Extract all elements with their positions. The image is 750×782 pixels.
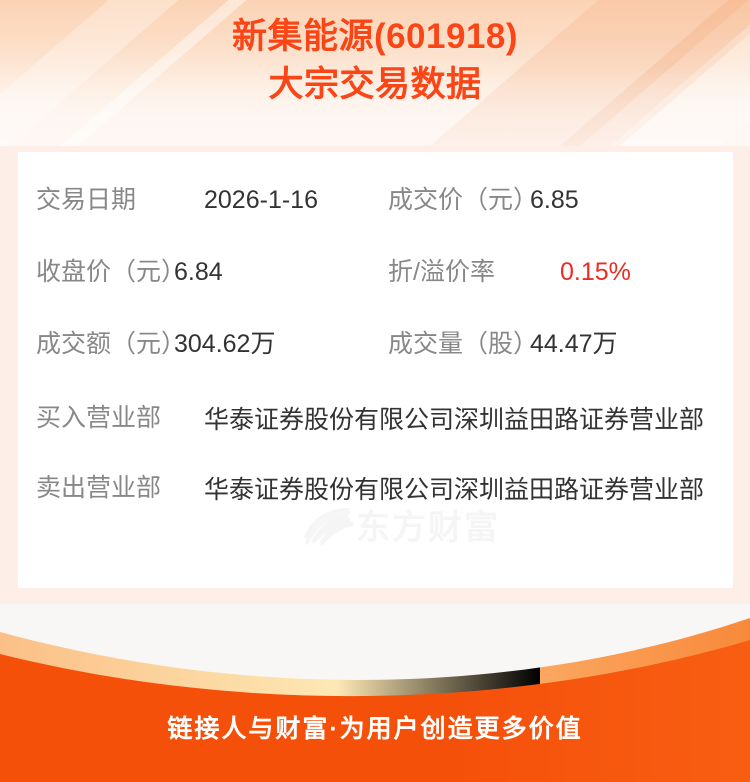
label-turnover-amount: 成交额（元） [36,324,174,364]
cell-deal-price: 成交价（元） 6.85 [388,180,733,220]
value-turnover-volume: 44.47万 [530,324,618,364]
data-rows: 交易日期 2026-1-16 成交价（元） 6.85 收盘价（元） 6.84 折… [18,180,733,520]
footer-wave-decoration [0,604,750,782]
value-deal-price: 6.85 [530,180,579,220]
cell-close-price: 收盘价（元） 6.84 [36,252,388,292]
table-row: 交易日期 2026-1-16 成交价（元） 6.85 [18,180,733,232]
table-row: 成交额（元） 304.62万 成交量（股） 44.47万 [18,324,733,376]
cell-turnover-amount: 成交额（元） 304.62万 [36,324,388,364]
footer-band: 链接人与财富·为用户创造更多价值 [0,604,750,782]
value-turnover-amount: 304.62万 [174,324,275,364]
cell-premium-rate: 折/溢价率 0.15% [388,252,733,292]
value-close-price: 6.84 [174,252,223,292]
table-row: 卖出营业部 华泰证券股份有限公司深圳益田路证券营业部 [18,468,733,520]
value-premium-rate: 0.15% [560,252,631,292]
trade-data-card: 东方财富 交易日期 2026-1-16 成交价（元） 6.85 收盘价（元） 6… [18,152,733,588]
footer-slogan: 链接人与财富·为用户创造更多价值 [0,709,750,745]
value-buy-branch: 华泰证券股份有限公司深圳益田路证券营业部 [204,398,713,443]
page-title-line-2: 大宗交易数据 [0,61,750,109]
page-title-line-1: 新集能源(601918) [232,17,518,56]
table-row: 买入营业部 华泰证券股份有限公司深圳益田路证券营业部 [18,398,733,450]
poster-root: 新集能源(601918) 大宗交易数据 东方财富 交易日期 2026-1-16 … [0,0,750,782]
value-trade-date: 2026-1-16 [204,180,318,220]
cell-trade-date: 交易日期 2026-1-16 [36,180,388,220]
label-turnover-volume: 成交量（股） [388,324,530,364]
page-title: 新集能源(601918) 大宗交易数据 [0,0,750,109]
label-close-price: 收盘价（元） [36,252,174,292]
label-sell-branch: 卖出营业部 [36,468,204,508]
value-sell-branch: 华泰证券股份有限公司深圳益田路证券营业部 [204,468,713,513]
cell-turnover-volume: 成交量（股） 44.47万 [388,324,733,364]
label-trade-date: 交易日期 [36,180,204,220]
label-premium-rate: 折/溢价率 [388,252,560,292]
header-banner: 新集能源(601918) 大宗交易数据 [0,0,750,146]
label-buy-branch: 买入营业部 [36,398,204,438]
table-row: 收盘价（元） 6.84 折/溢价率 0.15% [18,252,733,304]
label-deal-price: 成交价（元） [388,180,530,220]
